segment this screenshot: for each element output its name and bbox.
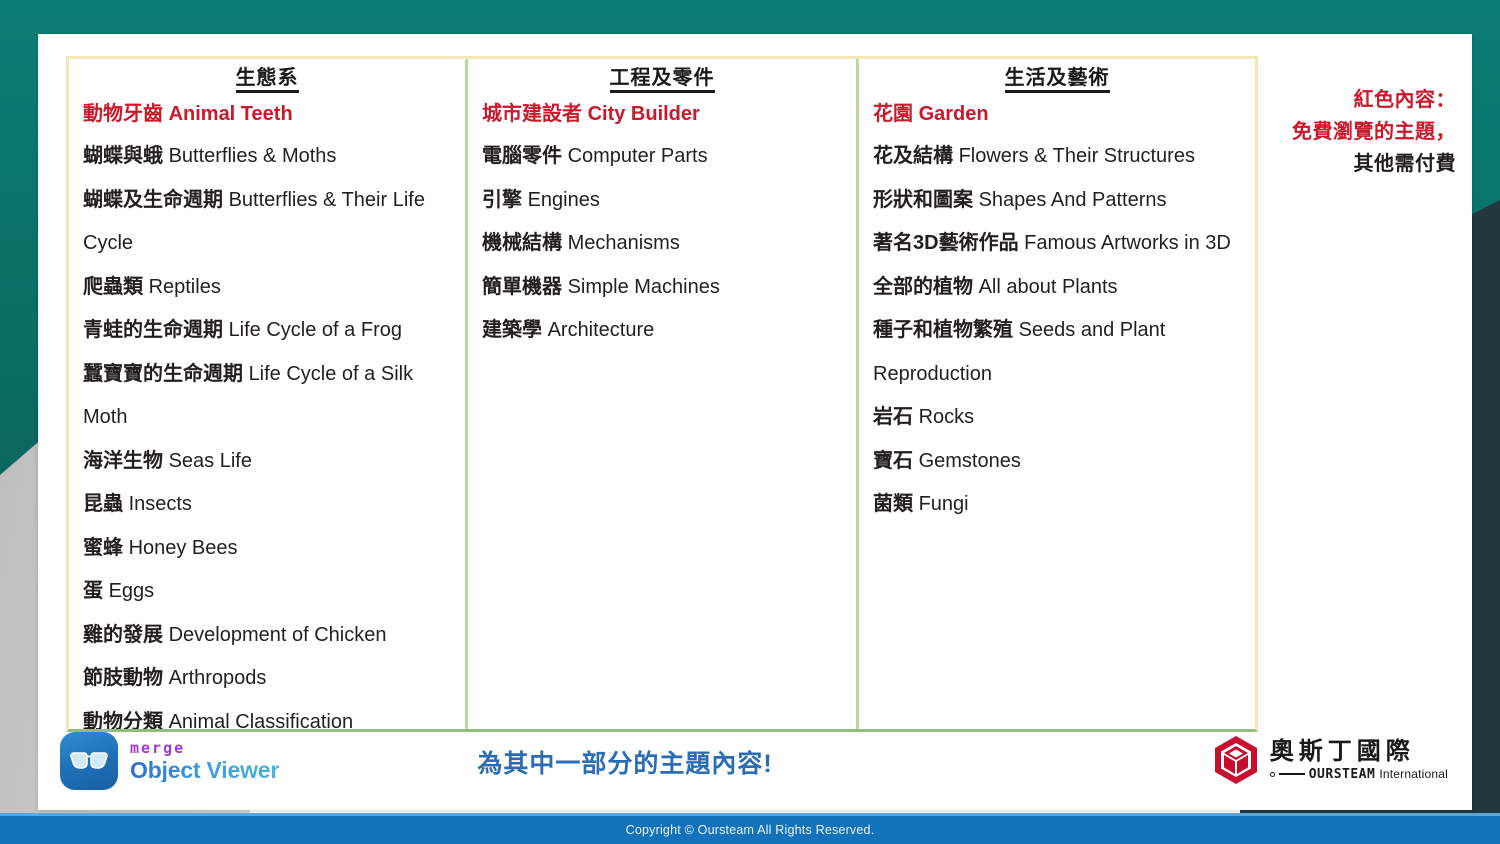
topic-name-en: Mechanisms (568, 232, 680, 254)
topic-name-en: Simple Machines (568, 276, 720, 298)
topic-name-zh: 種子和植物繁殖 (873, 319, 1019, 341)
topic-name-zh: 雞的發展 (83, 624, 169, 646)
topic-name-zh: 青蛙的生命週期 (83, 319, 229, 341)
topic-name-zh: 全部的植物 (873, 276, 979, 298)
topic-column-engineering: 工程及零件 城市建設者 City Builder電腦零件 Computer Pa… (468, 59, 859, 729)
topic-list-life-and-art: 花園 Garden花及結構 Flowers & Their Structures… (873, 93, 1241, 527)
topic-item: 岩石 Rocks (873, 396, 1241, 440)
topic-item: 蝴蝶及生命週期 Butterflies & Their Life Cycle (83, 179, 451, 266)
topic-name-en: Rocks (919, 406, 975, 428)
topic-item: 城市建設者 City Builder (482, 93, 842, 135)
topic-name-en: Eggs (109, 580, 155, 602)
topic-name-en: City Builder (588, 103, 700, 125)
topic-item: 爬蟲類 Reptiles (83, 266, 451, 310)
column-header-ecology: 生態系 (83, 65, 451, 92)
topic-item: 動物牙齒 Animal Teeth (83, 93, 451, 135)
topic-name-en: Architecture (548, 319, 655, 341)
topic-name-zh: 著名3D藝術作品 (873, 232, 1024, 254)
topic-item: 形狀和圖案 Shapes And Patterns (873, 179, 1241, 223)
topic-name-en: Arthropods (169, 667, 267, 689)
topic-item: 簡單機器 Simple Machines (482, 266, 842, 310)
topic-item: 菌類 Fungi (873, 483, 1241, 527)
topic-item: 昆蟲 Insects (83, 483, 451, 527)
ourstream-wordmark: 奧斯丁國際 OURSTEAM International (1270, 740, 1448, 781)
topic-name-zh: 昆蟲 (83, 493, 129, 515)
topic-name-en: Animal Classification (169, 711, 354, 730)
topic-name-en: Garden (919, 103, 989, 125)
line-icon (1279, 773, 1305, 775)
topic-item: 節肢動物 Arthropods (83, 657, 451, 701)
topic-item: 動物分類 Animal Classification (83, 701, 451, 730)
topic-item: 花及結構 Flowers & Their Structures (873, 135, 1241, 179)
topic-name-zh: 海洋生物 (83, 450, 169, 472)
topic-name-en: Insects (129, 493, 192, 515)
topic-item: 花園 Garden (873, 93, 1241, 135)
topic-item: 寶石 Gemstones (873, 440, 1241, 484)
topic-item: 電腦零件 Computer Parts (482, 135, 842, 179)
content-card: 生態系 動物牙齒 Animal Teeth蝴蝶與蛾 Butterflies & … (38, 34, 1472, 810)
topic-item: 海洋生物 Seas Life (83, 440, 451, 484)
topic-list-engineering: 城市建設者 City Builder電腦零件 Computer Parts引擎 … (482, 93, 842, 353)
topic-item: 蛋 Eggs (83, 570, 451, 614)
topic-item: 雞的發展 Development of Chicken (83, 614, 451, 658)
topic-item: 種子和植物繁殖 Seeds and Plant Reproduction (873, 309, 1241, 396)
topic-name-en: Reptiles (149, 276, 221, 298)
topic-table: 生態系 動物牙齒 Animal Teeth蝴蝶與蛾 Butterflies & … (66, 56, 1258, 732)
topic-name-zh: 機械結構 (482, 232, 568, 254)
topic-name-zh: 電腦零件 (482, 145, 568, 167)
legend-note: 紅色內容： 免費瀏覽的主題， 其他需付費 (1276, 84, 1456, 180)
topic-name-zh: 爬蟲類 (83, 276, 149, 298)
topic-column-ecology: 生態系 動物牙齒 Animal Teeth蝴蝶與蛾 Butterflies & … (69, 59, 468, 729)
ourstream-zh-name: 奧斯丁國際 (1270, 740, 1448, 764)
topic-name-zh: 寶石 (873, 450, 919, 472)
topic-column-life-and-art: 生活及藝術 花園 Garden花及結構 Flowers & Their Stru… (859, 59, 1255, 729)
topic-name-zh: 蝴蝶與蛾 (83, 145, 169, 167)
topic-item: 全部的植物 All about Plants (873, 266, 1241, 310)
topic-name-zh: 動物牙齒 (83, 103, 169, 125)
topic-name-en: Shapes And Patterns (979, 189, 1167, 211)
column-header-life-and-art-label: 生活及藝術 (1005, 67, 1110, 93)
ourstream-brand: OURSTEAM (1309, 768, 1376, 781)
topic-item: 建築學 Architecture (482, 309, 842, 353)
dot-icon (1270, 772, 1275, 777)
ourstream-en-line: OURSTEAM International (1270, 768, 1448, 781)
topic-name-zh: 岩石 (873, 406, 919, 428)
topic-name-en: Butterflies & Moths (169, 145, 337, 167)
topic-name-en: Animal Teeth (169, 103, 293, 125)
topic-item: 引擎 Engines (482, 179, 842, 223)
topic-name-zh: 蛋 (83, 580, 109, 602)
topic-item: 蜜蜂 Honey Bees (83, 527, 451, 571)
ourstream-logo: 奧斯丁國際 OURSTEAM International (1212, 734, 1448, 786)
topic-name-zh: 動物分類 (83, 711, 169, 730)
legend-note-line-1: 紅色內容： (1276, 84, 1456, 116)
topic-name-en: Fungi (919, 493, 969, 515)
topic-name-zh: 花及結構 (873, 145, 959, 167)
topic-name-en: Famous Artworks in 3D (1024, 232, 1231, 254)
column-header-ecology-label: 生態系 (236, 67, 299, 93)
column-header-life-and-art: 生活及藝術 (873, 65, 1241, 92)
topic-item: 機械結構 Mechanisms (482, 222, 842, 266)
ourstream-suffix: International (1379, 768, 1448, 780)
topic-name-en: Honey Bees (129, 537, 238, 559)
topic-name-zh: 蝴蝶及生命週期 (83, 189, 229, 211)
topic-item: 著名3D藝術作品 Famous Artworks in 3D (873, 222, 1241, 266)
topic-name-zh: 引擎 (482, 189, 528, 211)
topic-name-en: Development of Chicken (169, 624, 387, 646)
topic-name-zh: 花園 (873, 103, 919, 125)
topic-item: 青蛙的生命週期 Life Cycle of a Frog (83, 309, 451, 353)
slide-canvas: 生態系 動物牙齒 Animal Teeth蝴蝶與蛾 Butterflies & … (0, 0, 1500, 844)
topic-name-en: Flowers & Their Structures (959, 145, 1195, 167)
topic-name-zh: 菌類 (873, 493, 919, 515)
column-header-engineering: 工程及零件 (482, 65, 842, 92)
topic-name-zh: 建築學 (482, 319, 548, 341)
topic-name-zh: 節肢動物 (83, 667, 169, 689)
legend-note-line-2: 免費瀏覽的主題， (1276, 116, 1456, 148)
topic-name-zh: 簡單機器 (482, 276, 568, 298)
topic-name-zh: 形狀和圖案 (873, 189, 979, 211)
topic-list-ecology: 動物牙齒 Animal Teeth蝴蝶與蛾 Butterflies & Moth… (83, 93, 451, 729)
copyright-text: Copyright © Oursteam All Rights Reserved… (626, 823, 875, 837)
topic-name-en: Gemstones (919, 450, 1021, 472)
topic-name-en: All about Plants (979, 276, 1118, 298)
topic-name-en: Engines (528, 189, 600, 211)
footer: merge Object Viewer 為其中一部分的主題內容! 奧斯丁國際 (38, 730, 1472, 798)
topic-name-en: Seas Life (169, 450, 252, 472)
legend-note-line-3: 其他需付費 (1276, 148, 1456, 180)
topic-name-en: Life Cycle of a Frog (229, 319, 402, 341)
column-header-engineering-label: 工程及零件 (610, 67, 715, 93)
topic-name-zh: 蠶寶寶的生命週期 (83, 363, 249, 385)
topic-item: 蝴蝶與蛾 Butterflies & Moths (83, 135, 451, 179)
topic-name-en: Computer Parts (568, 145, 708, 167)
hexagon-icon (1212, 734, 1260, 786)
copyright-bar: Copyright © Oursteam All Rights Reserved… (0, 813, 1500, 844)
topic-name-zh: 蜜蜂 (83, 537, 129, 559)
topic-item: 蠶寶寶的生命週期 Life Cycle of a Silk Moth (83, 353, 451, 440)
topic-name-zh: 城市建設者 (482, 103, 588, 125)
